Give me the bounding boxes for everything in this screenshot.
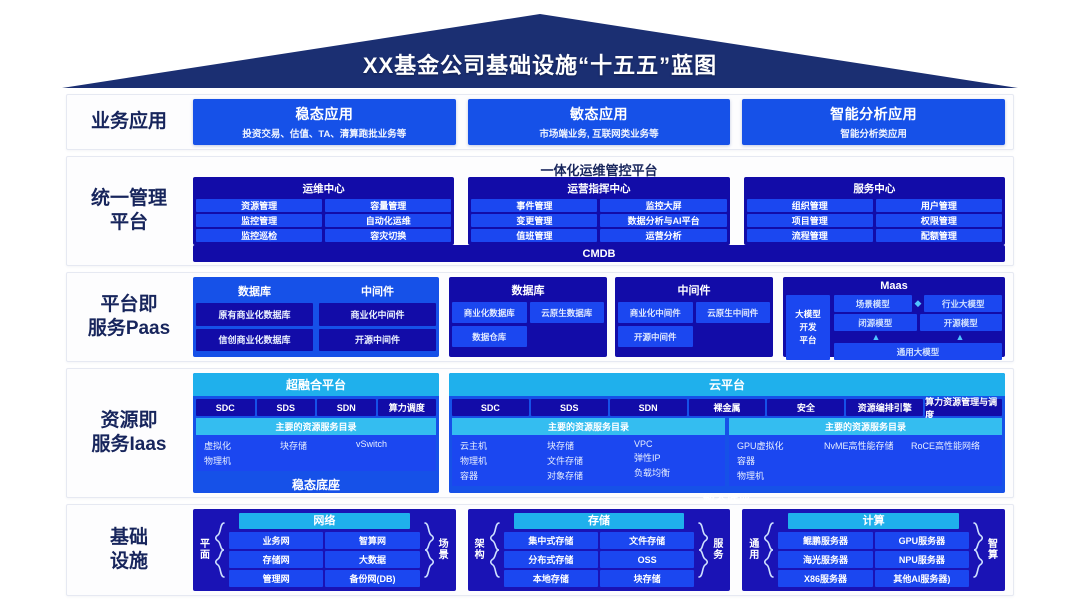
maas-dev-platform-line3: 平台 (799, 334, 816, 347)
blueprint-diagram: XX基金公司基础设施“十五五”蓝图 业务应用 稳态应用 投资交易、估值、TA、清… (0, 0, 1080, 608)
iaas-tag[interactable]: 资源编排引擎 (846, 399, 923, 416)
side-label-line1: 通 (749, 539, 759, 550)
row-business-application: 业务应用 稳态应用 投资交易、估值、TA、清算跑批业务等 敏态应用 市场端业务,… (66, 94, 1014, 150)
business-cards: 稳态应用 投资交易、估值、TA、清算跑批业务等 敏态应用 市场端业务, 互联网类… (191, 95, 1007, 149)
catalog-item: NvME高性能存储 (824, 439, 907, 452)
center-service[interactable]: 服务中心 组织管理 用户管理 项目管理 权限管理 流程管理 配额管理 (744, 177, 1005, 245)
center-item[interactable]: 组织管理 (747, 199, 873, 212)
catalog-item: vSwitch (356, 439, 428, 449)
catalog-item: 虚拟化 (204, 439, 276, 452)
center-ops[interactable]: 运维中心 资源管理 容量管理 监控管理 自动化运维 监控巡检 容灾切换 (193, 177, 454, 245)
row-label-paas-line1: 平台即 (100, 293, 157, 317)
paas-item[interactable]: 原有商业化数据库 (196, 303, 313, 326)
business-card-agile[interactable]: 敏态应用 市场端业务, 互联网类业务等 (468, 99, 731, 145)
center-item[interactable]: 值班管理 (471, 229, 597, 242)
paas-stable-database: 数据库 原有商业化数据库 信创商业化数据库 (196, 280, 313, 354)
hyper-catalog: 主要的资源服务目录 虚拟化 物理机 块存储 vSwitc (196, 418, 436, 471)
business-card-title: 稳态应用 (295, 104, 353, 124)
side-label-line1: 架 (475, 539, 485, 550)
side-label-line2: 用 (749, 550, 759, 561)
iaas-tag[interactable]: SDS (531, 399, 608, 416)
paas-agile-middleware: 中间件 商业化中间件 云原生中间件 开源中间件 (615, 277, 773, 357)
row-paas: 平台即 服务Paas 数据库 原有商业化数据库 信创商业化数据库 中间件 商业化… (66, 272, 1014, 362)
infra-right-label-compute: 智 算 (985, 539, 1001, 561)
maas-dev-platform-line1: 大模型 (795, 308, 821, 321)
infra-item[interactable]: 海光服务器 (778, 551, 872, 568)
maas-item[interactable]: 行业大模型 (924, 295, 1002, 312)
paas-item[interactable]: 商业化中间件 (618, 302, 693, 323)
catalog-item: 块存储 (547, 439, 630, 452)
side-label-line1: 智 (988, 539, 998, 550)
iaas-tag[interactable]: SDS (257, 399, 316, 416)
infra-item[interactable]: NPU服务器 (875, 551, 969, 568)
catalog-column: RoCE高性能网络 (911, 439, 994, 482)
hyperconverged-header: 超融合平台 (193, 373, 439, 396)
center-item[interactable]: 用户管理 (876, 199, 1002, 212)
iaas-tag[interactable]: 算力资源管理与调度 (925, 399, 1002, 416)
side-label-line1: 场 (439, 539, 449, 550)
row-label-paas-line2: 服务Paas (88, 317, 170, 341)
infra-item[interactable]: 大数据 (325, 551, 419, 568)
catalog-column: 块存储 文件存储 对象存储 (547, 439, 630, 482)
row-label-iaas: 资源即 服务Iaas (67, 369, 191, 497)
infra-header-compute: 计算 (788, 513, 959, 529)
infra-item[interactable]: 鲲鹏服务器 (778, 532, 872, 549)
paas-item-empty (530, 326, 605, 347)
infra-item[interactable]: 分布式存储 (504, 551, 598, 568)
side-label-line2: 构 (475, 550, 485, 561)
paas-subgroup-header: 中间件 (618, 280, 770, 302)
infra-item[interactable]: X86服务器 (778, 570, 872, 587)
business-card-title: 智能分析应用 (830, 104, 917, 124)
paas-stable-middleware: 中间件 商业化中间件 开源中间件 (319, 280, 436, 354)
paas-item[interactable]: 开源中间件 (319, 329, 436, 352)
paas-item[interactable]: 云原生中间件 (696, 302, 771, 323)
row-infrastructure: 基础 设施 平 面 网络 业务网 (66, 504, 1014, 596)
hyper-footer: 稳态底座 (193, 473, 439, 497)
row-label-management-line2: 平台 (110, 211, 148, 235)
title-roof: XX基金公司基础设施“十五五”蓝图 (0, 14, 1080, 88)
catalog-item: 物理机 (460, 454, 543, 467)
brace-left-icon (490, 521, 501, 579)
brace-right-icon (423, 521, 434, 579)
center-item[interactable]: 容量管理 (325, 199, 451, 212)
diamond-connector-icon: ◆ (915, 299, 922, 308)
catalog-item: 物理机 (204, 454, 276, 467)
center-item[interactable]: 监控巡检 (196, 229, 322, 242)
row-unified-management: 统一管理 平台 一体化运维管控平台 运维中心 资源管理 容量管理 监控管理 自动… (66, 156, 1014, 266)
catalog-header: 主要的资源服务目录 (196, 418, 436, 435)
infra-item[interactable]: 其他AI服务器) (875, 570, 969, 587)
paas-stable-group: 数据库 原有商业化数据库 信创商业化数据库 中间件 商业化中间件 开源中间件 (193, 277, 439, 357)
center-item[interactable]: 监控管理 (196, 214, 322, 227)
brace-left-icon (764, 521, 775, 579)
side-label-line2: 算 (988, 550, 998, 561)
business-card-subtitle: 投资交易、估值、TA、清算跑批业务等 (242, 126, 406, 140)
center-item[interactable]: 权限管理 (876, 214, 1002, 227)
center-item[interactable]: 项目管理 (747, 214, 873, 227)
center-item[interactable]: 配额管理 (876, 229, 1002, 242)
paas-item[interactable]: 云原生数据库 (530, 302, 605, 323)
catalog-column: NvME高性能存储 (824, 439, 907, 482)
side-label-line1: 服 (713, 539, 723, 550)
paas-subgroup-header: 中间件 (319, 280, 436, 303)
paas-agile-database: 数据库 商业化数据库 云原生数据库 数据仓库 (449, 277, 607, 357)
catalog-item: 块存储 (280, 439, 352, 452)
infra-item[interactable]: 管理网 (229, 570, 323, 587)
paas-subgroup-header: 数据库 (452, 280, 604, 302)
infra-item[interactable]: GPU服务器 (875, 532, 969, 549)
center-item[interactable]: 事件管理 (471, 199, 597, 212)
infra-left-label-network: 平 面 (197, 539, 213, 561)
catalog-column: vSwitch (356, 439, 428, 467)
cmdb-bar[interactable]: CMDB (193, 245, 1005, 262)
business-card-subtitle: 市场端业务, 互联网类业务等 (539, 126, 658, 140)
catalog-column: 块存储 (280, 439, 352, 467)
maas-item[interactable]: 开源模型 (920, 314, 1003, 331)
infra-panel-compute: 通 用 计算 鲲鹏服务器 GPU服务器 海光服务器 NPU服务器 X86 (742, 509, 1005, 591)
row-label-management-line1: 统一管理 (91, 187, 167, 211)
infra-left-label-storage: 架 构 (472, 539, 488, 561)
side-label-line2: 面 (200, 550, 210, 561)
center-item[interactable]: 数据分析与AI平台 (600, 214, 726, 227)
infra-item[interactable]: 块存储 (600, 570, 694, 587)
catalog-item: 文件存储 (547, 454, 630, 467)
row-label-paas: 平台即 服务Paas (67, 273, 191, 361)
maas-dev-platform-line2: 开发 (799, 321, 816, 334)
center-item[interactable]: 流程管理 (747, 229, 873, 242)
row-label-business-text: 业务应用 (91, 110, 167, 134)
infra-item[interactable]: 业务网 (229, 532, 323, 549)
paas-item-empty (696, 326, 771, 347)
management-centers: 运维中心 资源管理 容量管理 监控管理 自动化运维 监控巡检 容灾切换 运营指挥… (193, 177, 1005, 245)
center-header: 运营指挥中心 (471, 179, 726, 199)
iaas-tag[interactable]: SDN (317, 399, 376, 416)
infra-item[interactable]: 集中式存储 (504, 532, 598, 549)
center-header: 服务中心 (747, 179, 1002, 199)
arrow-up-icon: ▲ (918, 333, 1002, 341)
maas-dev-platform[interactable]: 大模型 开发 平台 (786, 295, 830, 360)
catalog-header: 主要的资源服务目录 (729, 418, 1002, 435)
infra-left-label-compute: 通 用 (746, 539, 762, 561)
business-card-subtitle: 智能分析类应用 (840, 126, 907, 140)
center-operation-command[interactable]: 运营指挥中心 事件管理 监控大屏 变更管理 数据分析与AI平台 值班管理 运营分… (468, 177, 729, 245)
center-item[interactable]: 变更管理 (471, 214, 597, 227)
paas-item[interactable]: 数据仓库 (452, 326, 527, 347)
center-item[interactable]: 自动化运维 (325, 214, 451, 227)
catalog-header: 主要的资源服务目录 (452, 418, 725, 435)
page-title: XX基金公司基础设施“十五五”蓝图 (0, 48, 1080, 80)
catalog-item: 容器 (460, 469, 543, 482)
maas-panel: Maas 大模型 开发 平台 场景模型 ◆ 行业大模型 (783, 277, 1005, 357)
row-iaas: 资源即 服务Iaas 超融合平台 SDC SDS SDN 算力调度 主要的资源服 (66, 368, 1014, 498)
iaas-tag[interactable]: 裸金属 (689, 399, 766, 416)
center-item[interactable]: 监控大屏 (600, 199, 726, 212)
maas-item[interactable]: 场景模型 (834, 295, 912, 312)
infra-item[interactable]: 本地存储 (504, 570, 598, 587)
side-label-line2: 务 (713, 550, 723, 561)
business-card-stable[interactable]: 稳态应用 投资交易、估值、TA、清算跑批业务等 (193, 99, 456, 145)
infra-header-network: 网络 (239, 513, 410, 529)
paas-item[interactable]: 商业化数据库 (452, 302, 527, 323)
iaas-tag[interactable]: 安全 (767, 399, 844, 416)
row-label-management: 统一管理 平台 (67, 157, 191, 265)
catalog-column: GPU虚拟化 容器 物理机 (737, 439, 820, 482)
cloud-catalog-left: 主要的资源服务目录 云主机 物理机 容器 块存储 文件存储 (452, 418, 725, 486)
infra-item[interactable]: 智算网 (325, 532, 419, 549)
catalog-item: 弹性IP (634, 451, 717, 464)
infra-item[interactable]: 备份网(DB) (325, 570, 419, 587)
row-label-infra-line2: 设施 (110, 550, 148, 574)
catalog-item: 对象存储 (547, 469, 630, 482)
side-label-line1: 平 (200, 539, 210, 550)
catalog-item: 负载均衡 (634, 466, 717, 479)
center-header: 运维中心 (196, 179, 451, 199)
center-item[interactable]: 运营分析 (600, 229, 726, 242)
paas-subgroup-header: 数据库 (196, 280, 313, 303)
brace-right-icon (697, 521, 708, 579)
catalog-column: VPC 弹性IP 负载均衡 (634, 439, 717, 482)
catalog-column: 云主机 物理机 容器 (460, 439, 543, 482)
paas-item[interactable]: 信创商业化数据库 (196, 329, 313, 352)
maas-item-general-model[interactable]: 通用大模型 (834, 343, 1002, 360)
catalog-column: 虚拟化 物理机 (204, 439, 276, 467)
infra-panel-storage: 架 构 存储 集中式存储 文件存储 分布式存储 OSS 本地存储 (468, 509, 731, 591)
center-item[interactable]: 容灾切换 (325, 229, 451, 242)
paas-item[interactable]: 商业化中间件 (319, 303, 436, 326)
iaas-tag[interactable]: SDC (452, 399, 529, 416)
infra-right-label-network: 场 景 (436, 539, 452, 561)
row-label-iaas-line2: 服务Iaas (92, 433, 167, 457)
arrow-up-icon: ▲ (834, 333, 918, 341)
catalog-item: RoCE高性能网络 (911, 439, 994, 452)
catalog-item: 物理机 (737, 469, 820, 482)
iaas-tag[interactable]: SDN (610, 399, 687, 416)
iaas-tag[interactable]: 算力调度 (378, 399, 437, 416)
infra-item[interactable]: 文件存储 (600, 532, 694, 549)
side-label-line2: 景 (439, 550, 449, 561)
cloud-platform-header: 云平台 (449, 373, 1005, 396)
infra-panel-network: 平 面 网络 业务网 智算网 存储网 大数据 管理网 (193, 509, 456, 591)
business-card-intelligent[interactable]: 智能分析应用 智能分析类应用 (742, 99, 1005, 145)
brace-left-icon (215, 521, 226, 579)
infra-right-label-storage: 服 务 (710, 539, 726, 561)
business-card-title: 敏态应用 (570, 104, 628, 124)
infra-item[interactable]: OSS (600, 551, 694, 568)
catalog-item: VPC (634, 439, 717, 449)
paas-item[interactable]: 开源中间件 (618, 326, 693, 347)
brace-right-icon (972, 521, 983, 579)
center-item[interactable]: 资源管理 (196, 199, 322, 212)
iaas-tag[interactable]: SDC (196, 399, 255, 416)
infra-item[interactable]: 存储网 (229, 551, 323, 568)
hyperconverged-platform: 超融合平台 SDC SDS SDN 算力调度 主要的资源服务目录 虚拟化 (193, 373, 439, 493)
row-label-iaas-line1: 资源即 (100, 409, 157, 433)
cloud-catalog-right: 主要的资源服务目录 GPU虚拟化 容器 物理机 NvME高性能存储 (729, 418, 1002, 486)
maas-header: Maas (786, 279, 1002, 295)
infra-header-storage: 存储 (514, 513, 685, 529)
paas-agile-group: 数据库 商业化数据库 云原生数据库 数据仓库 中间件 商业化中间件 云原生中间件 (449, 277, 773, 357)
row-label-infra-line1: 基础 (110, 526, 148, 550)
row-label-infrastructure: 基础 设施 (67, 505, 191, 595)
cloud-platform: 云平台 SDC SDS SDN 裸金属 安全 资源编排引擎 算力资源管理与调度 … (449, 373, 1005, 493)
catalog-item: 云主机 (460, 439, 543, 452)
maas-item[interactable]: 闭源模型 (834, 314, 917, 331)
row-label-business: 业务应用 (67, 95, 191, 149)
catalog-item: GPU虚拟化 (737, 439, 820, 452)
catalog-item: 容器 (737, 454, 820, 467)
